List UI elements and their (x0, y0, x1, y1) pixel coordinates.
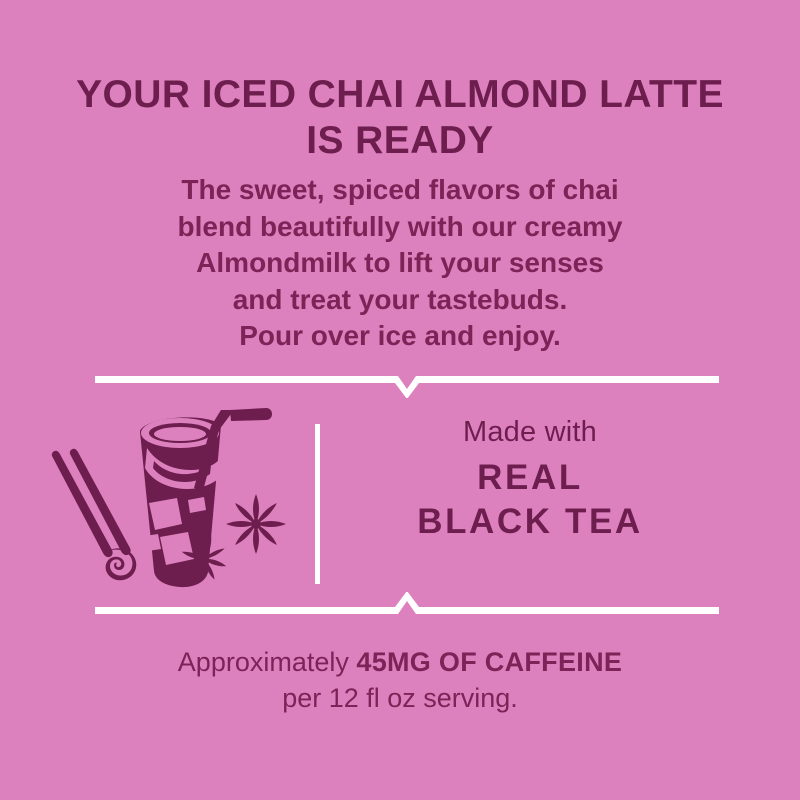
divider-vertical (315, 424, 320, 584)
caffeine-serving-line: per 12 fl oz serving. (70, 680, 730, 716)
star-anise-icon (226, 494, 286, 554)
ingredient-line: BLACK TEA (330, 500, 730, 544)
caffeine-amount: 45MG OF CAFFEINE (356, 647, 622, 677)
iced-chai-drink-illustration (48, 404, 310, 590)
caffeine-prefix: Approximately (178, 647, 357, 677)
ingredient-highlight: REAL BLACK TEA (330, 456, 730, 544)
divider-bottom (95, 592, 719, 618)
divider-top (95, 372, 719, 398)
description-line: and treat your tastebuds. (70, 282, 730, 319)
made-with-label: Made with (330, 414, 730, 450)
description-line: Almondmilk to lift your senses (70, 245, 730, 282)
description-line: blend beautifully with our creamy (70, 209, 730, 246)
made-with-block: Made with REAL BLACK TEA (330, 414, 730, 544)
caffeine-amount-line: Approximately 45MG OF CAFFEINE (70, 644, 730, 680)
caffeine-info: Approximately 45MG OF CAFFEINE per 12 fl… (70, 644, 730, 716)
cinnamon-sticks-icon (52, 449, 136, 580)
description-line: Pour over ice and enjoy. (70, 318, 730, 355)
ingredient-line: REAL (330, 456, 730, 500)
page-title: YOUR ICED CHAI ALMOND LATTE IS READY (60, 72, 740, 164)
description-line: The sweet, spiced flavors of chai (70, 172, 730, 209)
product-info-card: YOUR ICED CHAI ALMOND LATTE IS READY The… (0, 0, 800, 800)
feature-band: Made with REAL BLACK TEA (0, 398, 800, 594)
description-text: The sweet, spiced flavors of chai blend … (70, 172, 730, 355)
